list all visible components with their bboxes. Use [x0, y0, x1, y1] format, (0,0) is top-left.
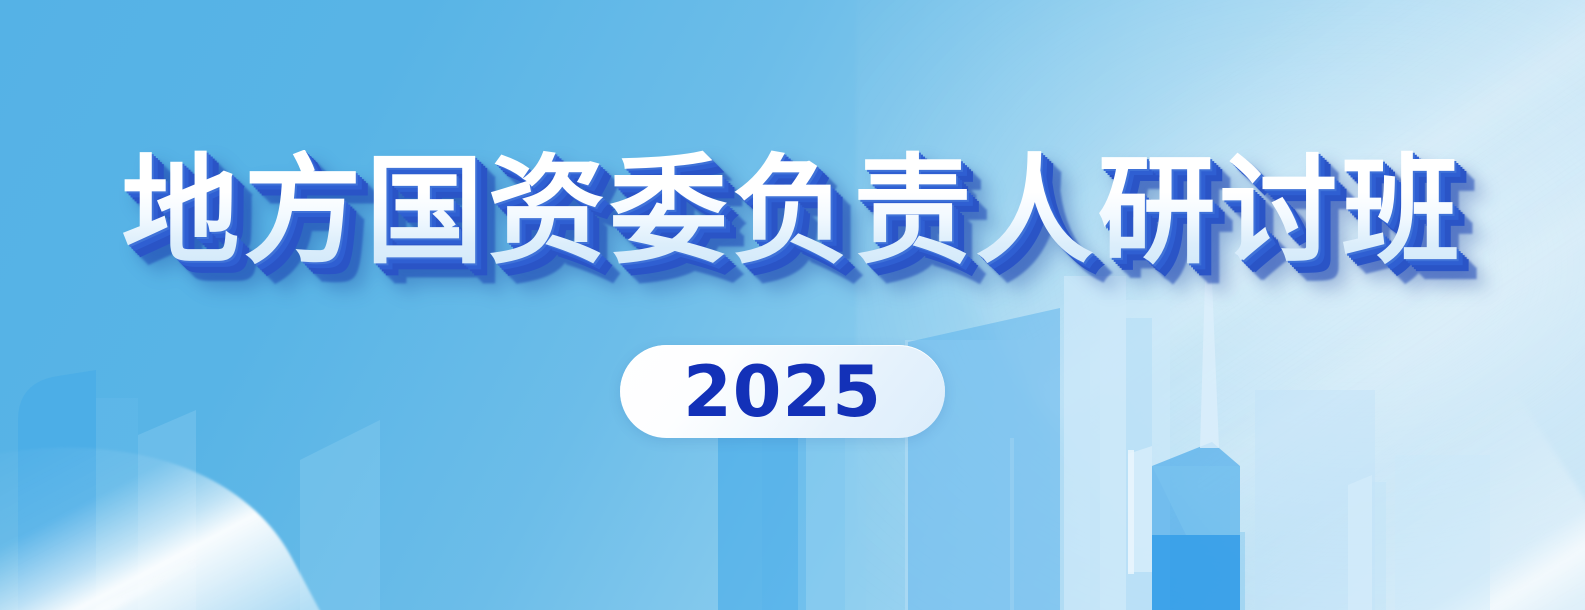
building-group-center [36, 382, 130, 610]
tower-9-glass-fin-edge [1128, 450, 1134, 574]
page-title: 地方国资委负责人研讨班 [0, 150, 1585, 274]
mid-towers [18, 368, 112, 610]
building-left-wedge [138, 410, 196, 610]
tower-8-spire-body [1152, 442, 1240, 610]
white-ribbon-highlight-edge [0, 550, 210, 610]
building-left-slim [96, 398, 138, 610]
city-skyline [0, 270, 1585, 610]
mast-thin-2 [1240, 532, 1245, 610]
white-ribbon-bottom-left [0, 330, 373, 610]
building-backdrop-d [1395, 455, 1490, 610]
year-badge-label: 2025 [683, 357, 882, 427]
tower-9-glass-fin [1128, 446, 1152, 572]
tower-11-far-slim [1372, 482, 1386, 610]
mast-thin-1 [1010, 438, 1014, 610]
diagonal-streak-right [1086, 0, 1585, 610]
tower-7-pale-slim [1126, 318, 1152, 610]
year-badge: 2025 [620, 345, 945, 438]
building-backdrop-b [1100, 300, 1170, 610]
tower-6-pale-tall [1064, 276, 1126, 610]
building-left-rounded [18, 370, 96, 610]
banner-hero: 地方国资委负责人研讨班 2025 [0, 0, 1585, 610]
tower-8-spire-facet [1152, 466, 1240, 535]
pale-wedge-bottom-right [1141, 383, 1585, 610]
tower-3-thin [762, 410, 806, 610]
tower-10-far [1348, 475, 1372, 610]
antenna-spire [1200, 280, 1219, 448]
building-left-angled [300, 420, 380, 610]
light-glow-right [856, 0, 1585, 610]
building-backdrop-c [1255, 390, 1375, 610]
tower-5-big-slab [908, 308, 1060, 610]
tower-8-spire-base [1152, 535, 1240, 610]
